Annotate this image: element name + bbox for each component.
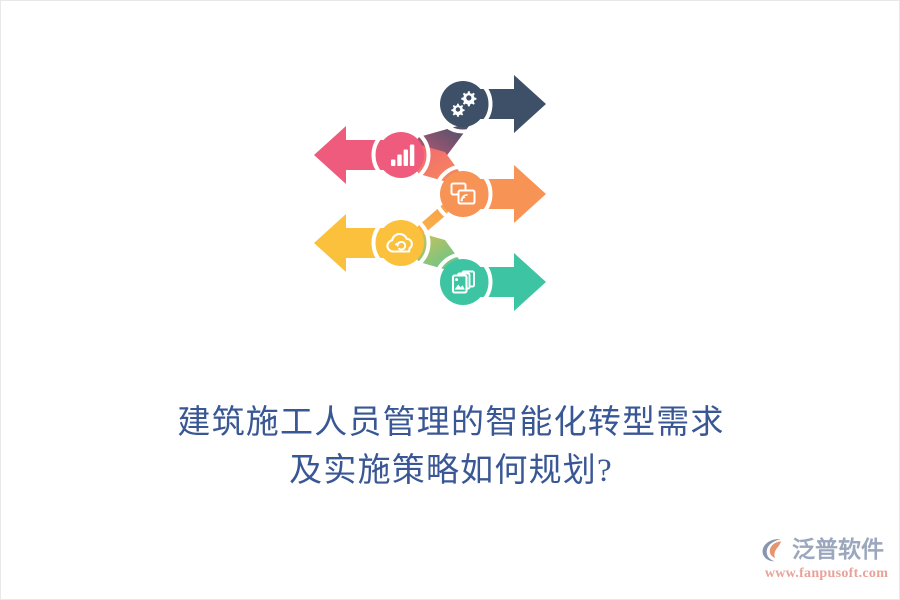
watermark-url: www.fanpusoft.com (759, 566, 894, 582)
zigzag-arrow-infographic (296, 59, 561, 324)
arrow-row-gears[interactable] (436, 75, 547, 133)
watermark: 泛普软件 www.fanpusoft.com (759, 533, 894, 587)
icon-circle-gears (440, 81, 486, 127)
arrow-row-cloud-sync[interactable] (314, 214, 429, 272)
watermark-brand-row: 泛普软件 (759, 533, 894, 567)
icon-circle-cloud-sync (378, 220, 424, 266)
watermark-brand-name: 泛普软件 (792, 535, 884, 565)
fanpu-logo-icon (759, 535, 789, 565)
page-root: 建筑施工人员管理的智能化转型需求 及实施策略如何规划? 泛普软件 www.fan… (0, 0, 900, 600)
title-line-1: 建筑施工人员管理的智能化转型需求 (1, 399, 900, 447)
arrow-row-bar-chart[interactable] (314, 126, 429, 184)
page-title: 建筑施工人员管理的智能化转型需求 及实施策略如何规划? (1, 399, 900, 495)
title-line-2: 及实施策略如何规划? (1, 447, 900, 495)
